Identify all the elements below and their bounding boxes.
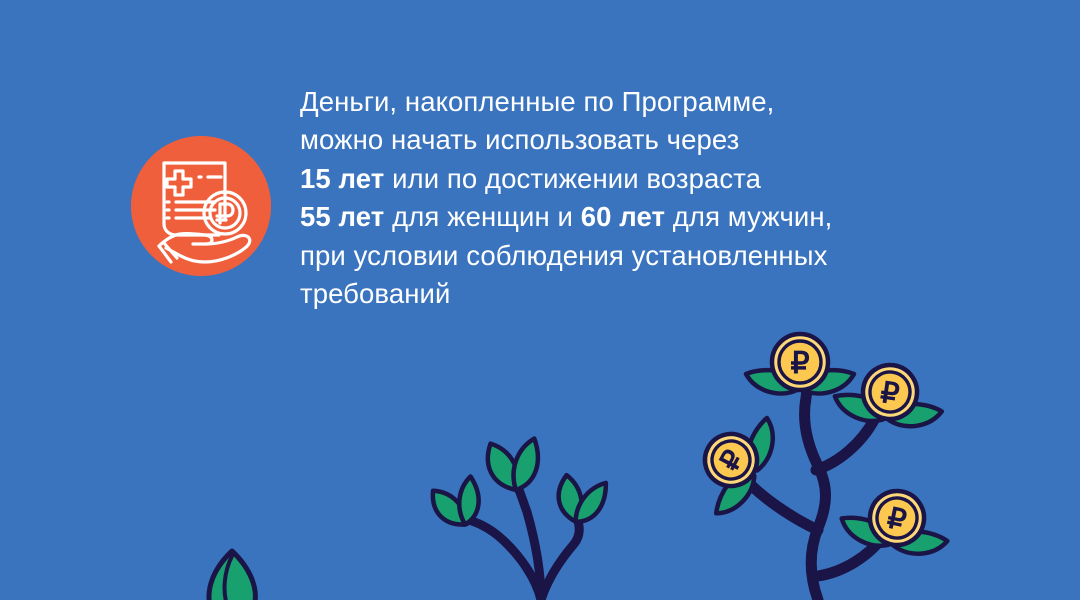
page-title-line: требований (300, 275, 960, 313)
page-title-text: для мужчин, (665, 201, 832, 232)
page-title-line: 55 лет для женщин и 60 лет для мужчин, (300, 198, 960, 236)
page-title-line: можно начать использовать через (300, 121, 960, 159)
icon-badge-circle (131, 136, 271, 276)
page-title: Деньги, накопленные по Программе,можно н… (300, 83, 960, 313)
page-title-text: при условии соблюдения установленных (300, 240, 827, 271)
page-title-text: можно начать использовать через (300, 124, 739, 155)
page-title-line: 15 лет или по достижении возраста (300, 160, 960, 198)
page-title-line: при условии соблюдения установленных (300, 237, 960, 275)
page-title-text: требований (300, 278, 450, 309)
page-title-highlight: 55 лет (300, 201, 384, 232)
page-title-text: для женщин и (384, 201, 580, 232)
document-with-ruble-coin-in-hand-icon (131, 136, 271, 276)
page-title-line: Деньги, накопленные по Программе, (300, 83, 960, 121)
page-title-text: или по достижении возраста (384, 163, 761, 194)
page-title-highlight: 15 лет (300, 163, 384, 194)
infographic-slide: ₽ ₽ ₽ ₽ (0, 0, 1080, 600)
page-title-highlight: 60 лет (581, 201, 665, 232)
page-title-text: Деньги, накопленные по Программе, (300, 86, 774, 117)
